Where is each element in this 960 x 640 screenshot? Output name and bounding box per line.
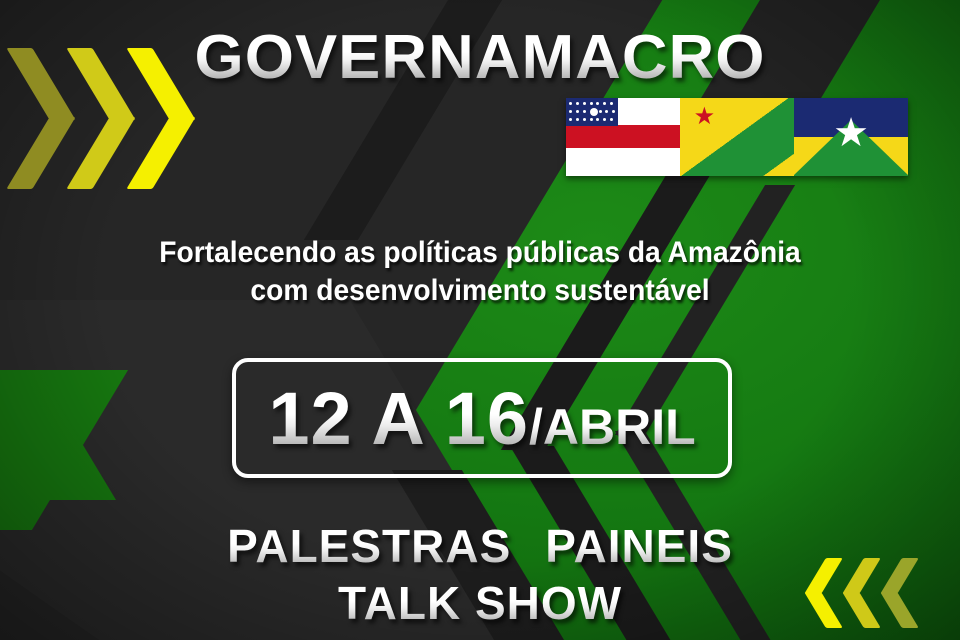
event-date-row: 12 A 16 /ABRIL — [268, 376, 695, 461]
amazonas-canton — [566, 98, 618, 126]
rondonia-flag: ★ — [794, 98, 908, 176]
event-date-box: 12 A 16 /ABRIL — [232, 358, 732, 478]
banner-title: GOVERNAMACRO — [0, 22, 960, 93]
acre-red-star-icon: ★ — [694, 106, 716, 128]
event-formats: PALESTRASPAINEIS TALK SHOW — [0, 518, 960, 632]
subtitle-line-1: Fortalecendo as políticas públicas da Am… — [29, 234, 931, 272]
event-date-range: 12 A 16 — [268, 376, 529, 461]
subtitle-line-2: com desenvolvimento sustentável — [29, 272, 931, 310]
rondonia-white-star-icon: ★ — [833, 113, 869, 153]
state-flags-row: ★ ★ — [566, 98, 908, 176]
acre-flag: ★ — [680, 98, 794, 176]
banner-subtitle: Fortalecendo as políticas públicas da Am… — [29, 234, 931, 311]
event-banner: GOVERNAMACRO — [0, 0, 960, 640]
event-formats-line-1: PALESTRASPAINEIS — [0, 518, 960, 575]
event-date-month: /ABRIL — [529, 398, 696, 456]
event-format-palestras: PALESTRAS — [227, 520, 511, 572]
event-formats-line-2: TALK SHOW — [0, 575, 960, 632]
event-format-talk-show: TALK SHOW — [338, 577, 622, 629]
amazonas-red-stripe — [566, 125, 680, 148]
amazonas-flag — [566, 98, 680, 176]
event-format-paineis: PAINEIS — [545, 520, 733, 572]
banner-content: GOVERNAMACRO — [0, 0, 960, 640]
